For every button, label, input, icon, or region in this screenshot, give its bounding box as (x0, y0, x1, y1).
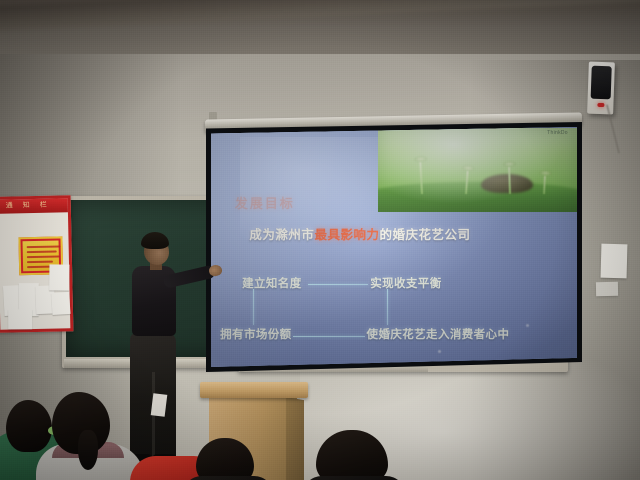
student-dark-hair-head (196, 438, 254, 480)
headline-prefix: 成为滁州市 (249, 228, 314, 242)
slide-headline: 成为滁州市最具影响力的婚庆花艺公司 (249, 224, 470, 243)
wall-notice-2 (596, 282, 618, 296)
photo-haze (378, 128, 577, 212)
slide-photo-seedlings (378, 128, 577, 212)
classroom-photo: 通 知 栏 (0, 0, 640, 480)
student-dark-hair-body (182, 476, 274, 480)
student-green-jacket-head (6, 400, 52, 452)
headline-highlight: 最具影响力 (314, 228, 379, 242)
ponytail (78, 430, 98, 470)
audience-row (0, 396, 640, 480)
screen-speck-1 (526, 324, 529, 327)
wall-speaker (587, 62, 615, 115)
slide-watermark: ThinkDo (547, 130, 568, 136)
bulletin-board: 通 知 栏 (0, 195, 73, 333)
slide-title: 发展目标 (235, 193, 295, 212)
ceiling-wall-junction (0, 0, 640, 32)
headline-suffix: 的婚庆花艺公司 (379, 228, 470, 242)
projection-screen: ThinkDo 发展目标 成为滁州市最具影响力的婚庆花艺公司 建立知名度 实现收… (206, 122, 582, 372)
presenter-hair (141, 232, 169, 249)
speaker-grille (591, 66, 612, 100)
bulletin-notices (1, 282, 72, 331)
screen-surface: ThinkDo 发展目标 成为滁州市最具影响力的婚庆花艺公司 建立知名度 实现收… (211, 127, 577, 367)
student-right-body (302, 476, 406, 480)
wall-notice-1 (601, 244, 628, 279)
bulletin-banner-label: 通 知 栏 (6, 200, 51, 211)
speaker-led (597, 103, 604, 107)
student-right-head (316, 430, 388, 480)
